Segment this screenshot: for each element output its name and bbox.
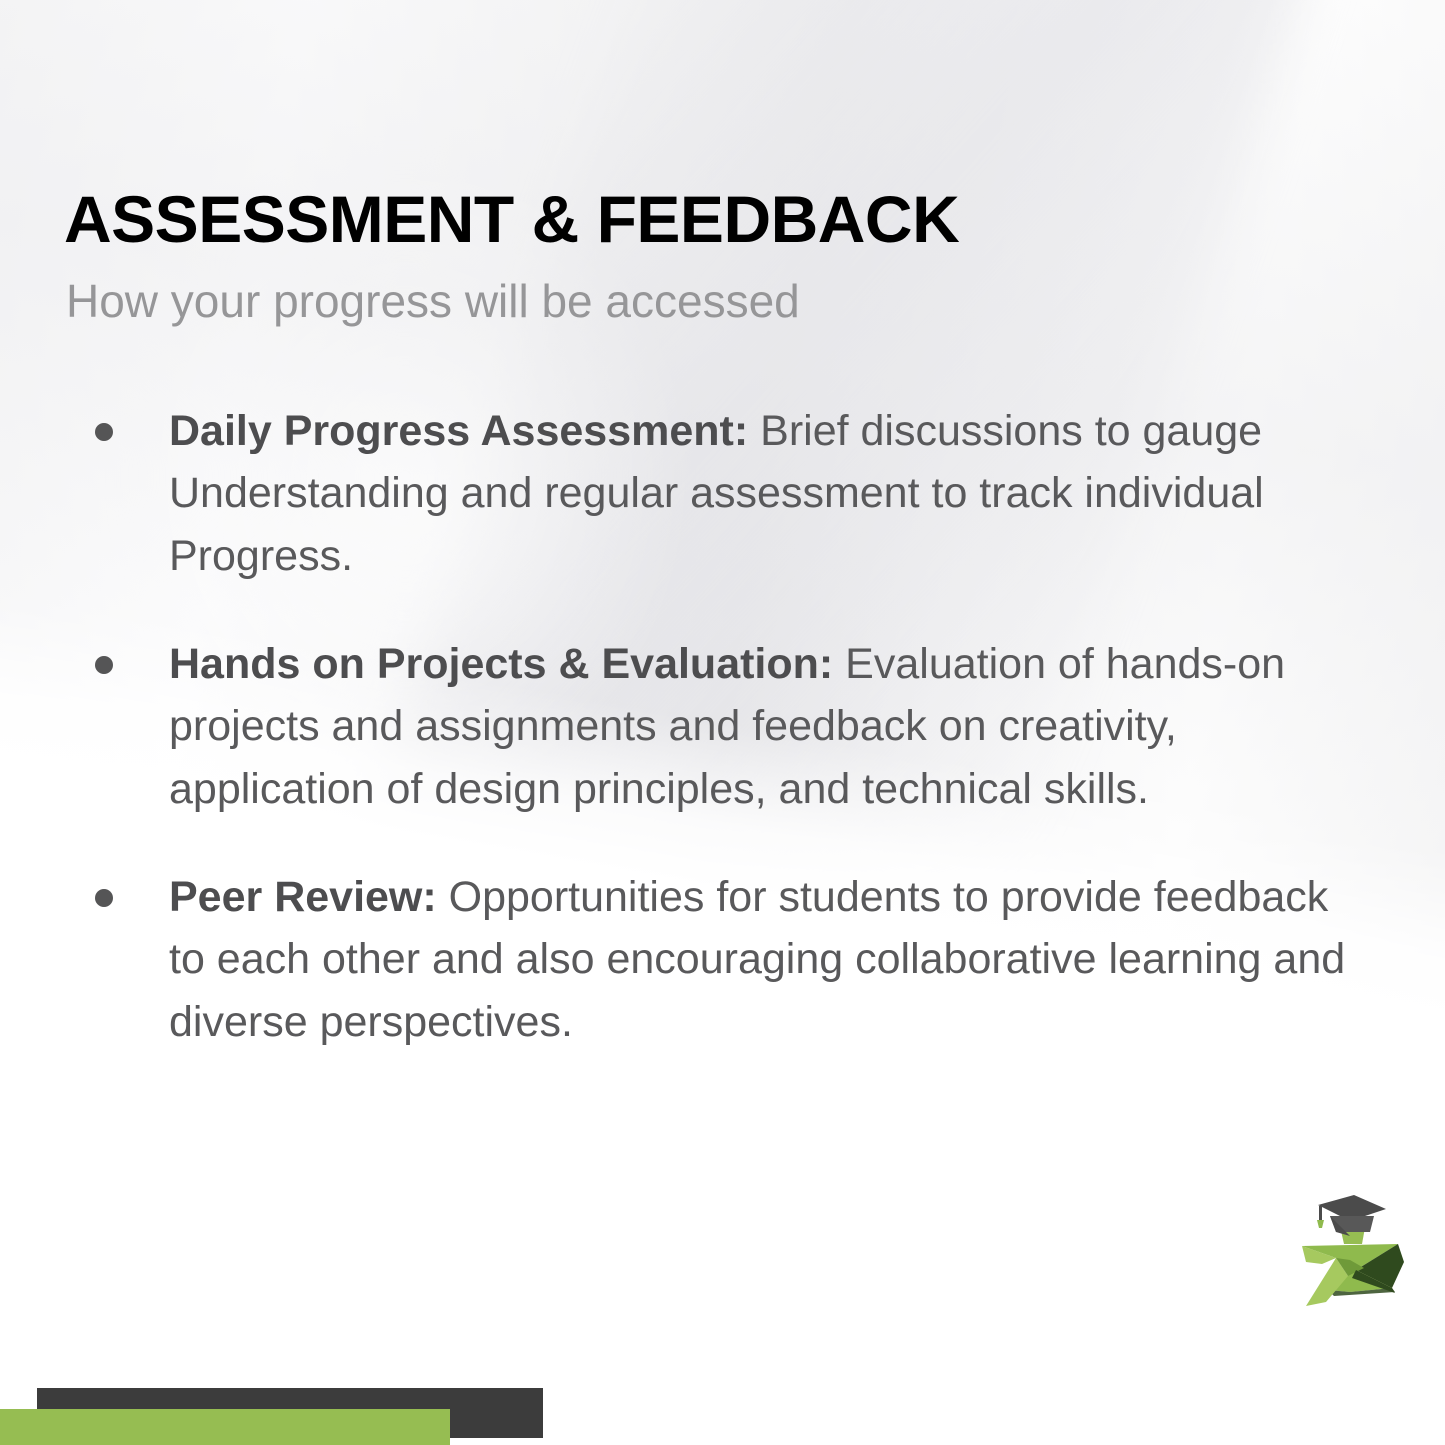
bullet-marker-icon [95,889,113,907]
page-title: ASSESSMENT & FEEDBACK [64,186,959,252]
list-item-lead: Peer Review: [169,873,437,921]
list-item: Daily Progress Assessment: Brief discuss… [0,400,1445,587]
slide-canvas: ASSESSMENT & FEEDBACK How your progress … [0,0,1445,1445]
green-star-z-icon [1302,1222,1404,1306]
page-subtitle: How your progress will be accessed [66,278,800,324]
graduation-star-logo [1292,1192,1412,1316]
list-item-lead: Hands on Projects & Evaluation: [169,640,833,688]
list-item-text: Daily Progress Assessment: Brief discuss… [169,400,1375,587]
graduation-cap-icon [1317,1195,1386,1236]
list-item-lead: Daily Progress Assessment: [169,407,748,455]
list-item: Hands on Projects & Evaluation: Evaluati… [0,633,1445,820]
list-item-text: Peer Review: Opportunities for students … [169,866,1375,1053]
bullet-list: Daily Progress Assessment: Brief discuss… [0,400,1445,1053]
list-item: Peer Review: Opportunities for students … [0,866,1445,1053]
bullet-marker-icon [95,656,113,674]
list-item-text: Hands on Projects & Evaluation: Evaluati… [169,633,1375,820]
bullet-marker-icon [95,423,113,441]
footer-bar-green [0,1409,450,1445]
